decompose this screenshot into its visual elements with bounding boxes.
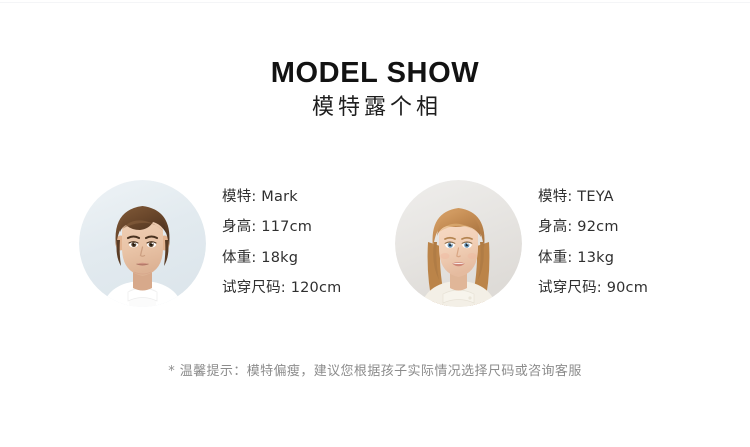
page-subtitle: 模特露个相: [0, 95, 750, 121]
model-photo-mark: [79, 180, 206, 307]
model-name-line: 模特: Mark: [222, 182, 341, 213]
model-height-line: 身高: 117cm: [222, 212, 341, 243]
model-photo-teya: [395, 180, 522, 307]
model-show-banner: MODEL SHOW 模特露个相: [0, 0, 750, 447]
model-card-teya: 模特: TEYA 身高: 92cm 体重: 13kg 试穿尺码: 90cm: [395, 180, 648, 307]
page-title: MODEL SHOW: [0, 56, 750, 90]
model-size-line: 试穿尺码: 90cm: [538, 273, 648, 304]
model-list: 模特: Mark 身高: 117cm 体重: 18kg 试穿尺码: 120cm: [0, 180, 750, 320]
model-name-line: 模特: TEYA: [538, 182, 648, 213]
top-divider: [0, 2, 750, 3]
model-weight-line: 体重: 18kg: [222, 243, 341, 274]
model-card-mark: 模特: Mark 身高: 117cm 体重: 18kg 试穿尺码: 120cm: [79, 180, 341, 307]
model-info-teya: 模特: TEYA 身高: 92cm 体重: 13kg 试穿尺码: 90cm: [538, 182, 648, 306]
model-weight-line: 体重: 13kg: [538, 243, 648, 274]
header: MODEL SHOW 模特露个相: [0, 56, 750, 121]
size-advice-note: * 温馨提示：模特偏瘦，建议您根据孩子实际情况选择尺码或咨询客服: [0, 363, 750, 381]
model-info-mark: 模特: Mark 身高: 117cm 体重: 18kg 试穿尺码: 120cm: [222, 182, 341, 306]
girl-portrait-illustration: [395, 180, 522, 307]
boy-portrait-illustration: [79, 180, 206, 307]
model-height-line: 身高: 92cm: [538, 212, 648, 243]
model-size-line: 试穿尺码: 120cm: [222, 273, 341, 304]
